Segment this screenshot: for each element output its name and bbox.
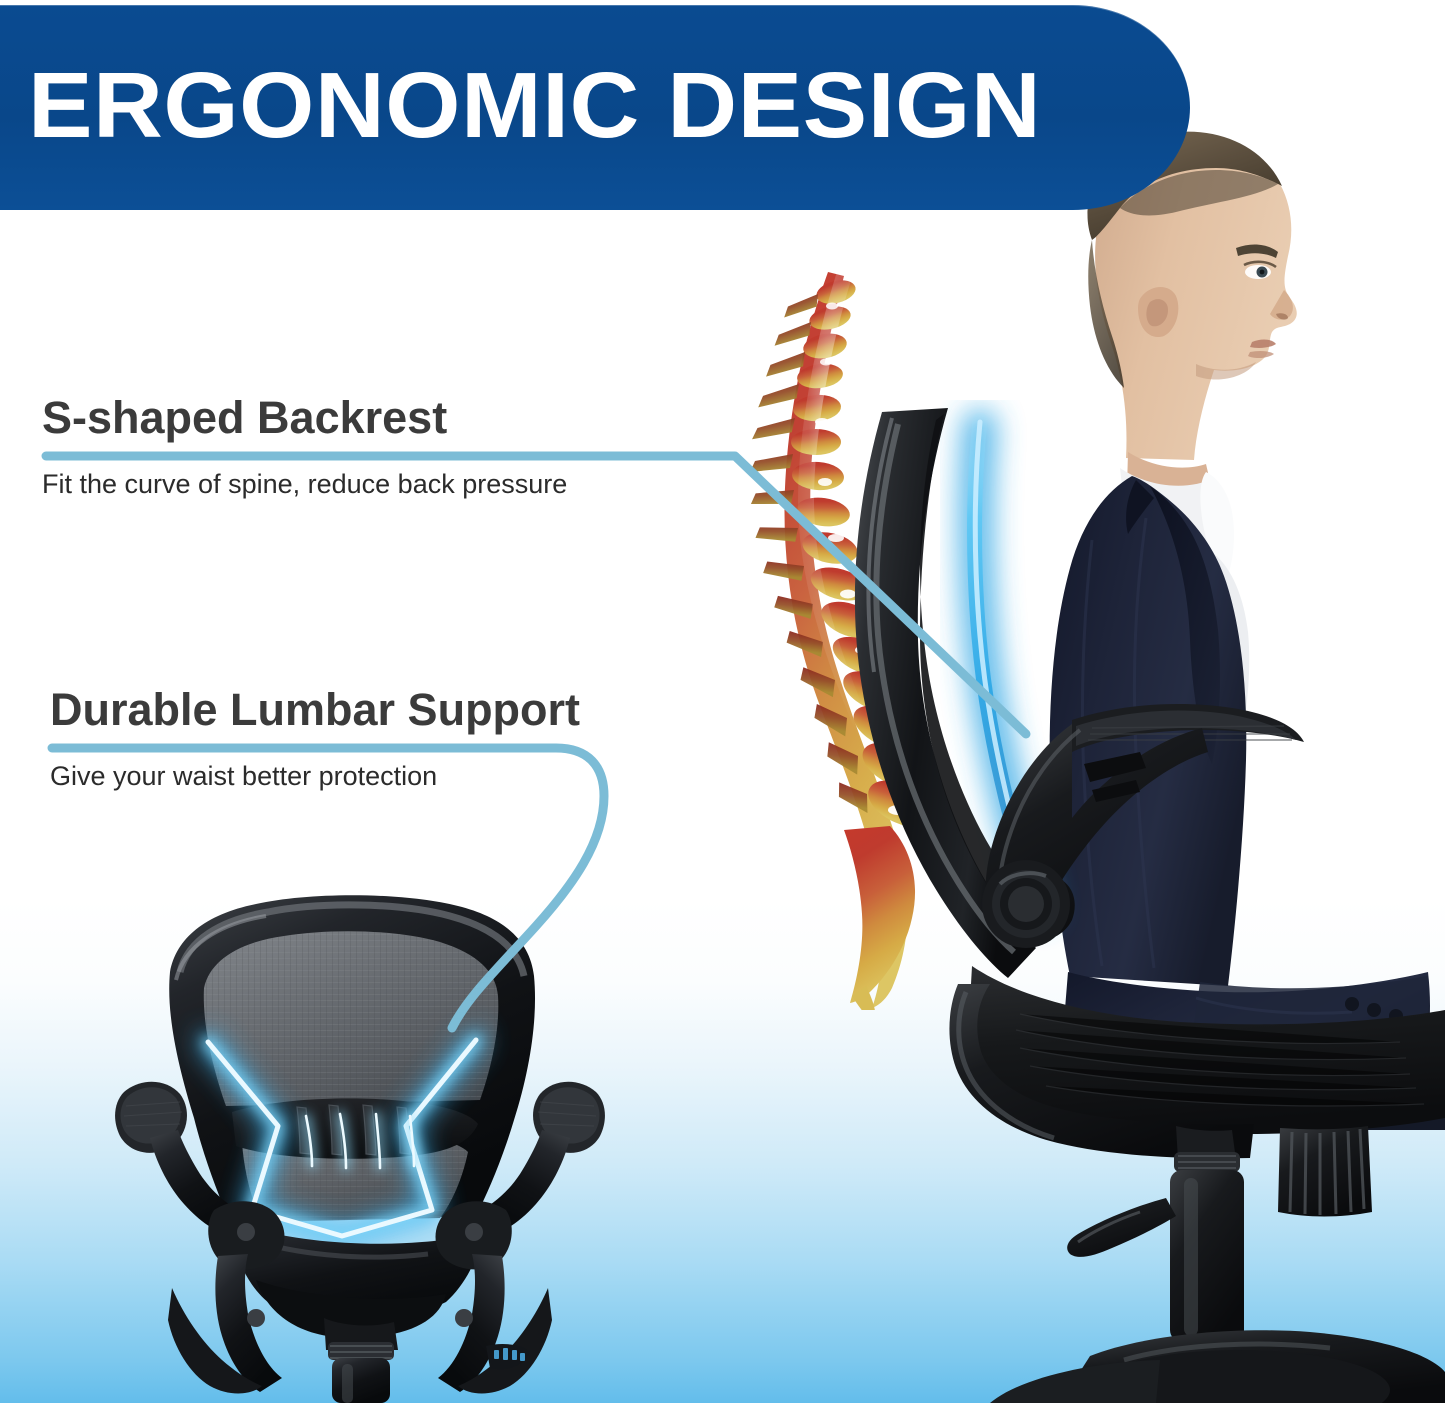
feature-title-s-shaped-backrest: S-shaped Backrest: [42, 392, 567, 444]
feature-block-durable-lumbar-support: Durable Lumbar Support Give your waist b…: [50, 684, 580, 793]
feature-graphic-canvas: ERGONOMIC DESIGN S-shaped Backrest Fit t…: [0, 0, 1445, 1403]
office-chair-rear-view: [110, 880, 610, 1403]
feature-subtitle-s-shaped-backrest: Fit the curve of spine, reduce back pres…: [42, 467, 567, 501]
page-title: ERGONOMIC DESIGN: [28, 53, 1041, 157]
header-banner: ERGONOMIC DESIGN: [0, 5, 1190, 210]
feature-title-durable-lumbar-support: Durable Lumbar Support: [50, 684, 580, 736]
feature-block-s-shaped-backrest: S-shaped Backrest Fit the curve of spine…: [42, 392, 567, 501]
feature-subtitle-durable-lumbar-support: Give your waist better protection: [50, 759, 580, 793]
office-chair-side-view: [840, 400, 1445, 1403]
